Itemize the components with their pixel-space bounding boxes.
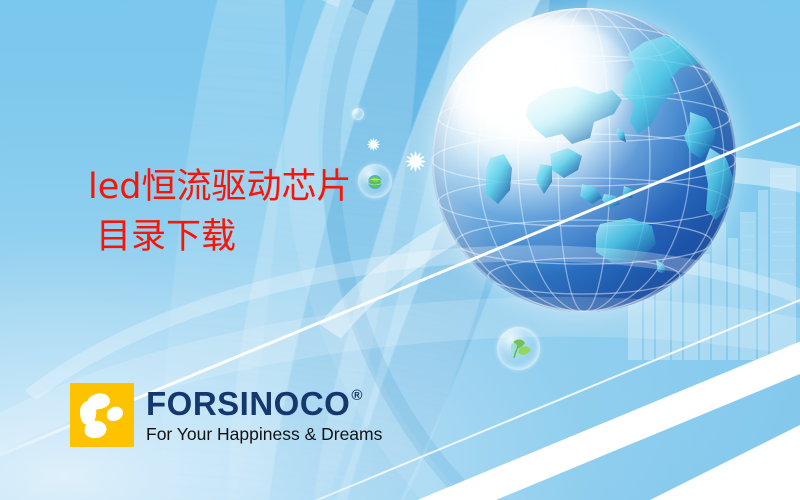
- company-logo: FORSINOCO ® For Your Happiness & Dreams: [70, 383, 382, 447]
- pinwheel-petals-svg: [70, 383, 134, 447]
- flower-sparkle-icon-small: [366, 137, 381, 152]
- bubble-with-leaf: [497, 327, 540, 370]
- promo-banner: led恒流驱动芯片 目录下载 FORSINOCO ®: [0, 0, 800, 500]
- pinwheel-petals-icon: [70, 383, 134, 447]
- bubble-tiny: [352, 108, 364, 120]
- green-leaf-icon: [497, 327, 540, 370]
- logo-tagline: For Your Happiness & Dreams: [146, 426, 382, 444]
- logo-wordmark: FORSINOCO ®: [146, 387, 382, 420]
- logo-text-block: FORSINOCO ® For Your Happiness & Dreams: [146, 387, 382, 444]
- headline: led恒流驱动芯片 目录下载: [88, 163, 508, 262]
- headline-line-2: 目录下载: [88, 213, 508, 263]
- registered-trademark-icon: ®: [351, 388, 363, 403]
- headline-line-1: led恒流驱动芯片: [88, 163, 508, 213]
- logo-wordmark-text: FORSINOCO: [146, 387, 350, 420]
